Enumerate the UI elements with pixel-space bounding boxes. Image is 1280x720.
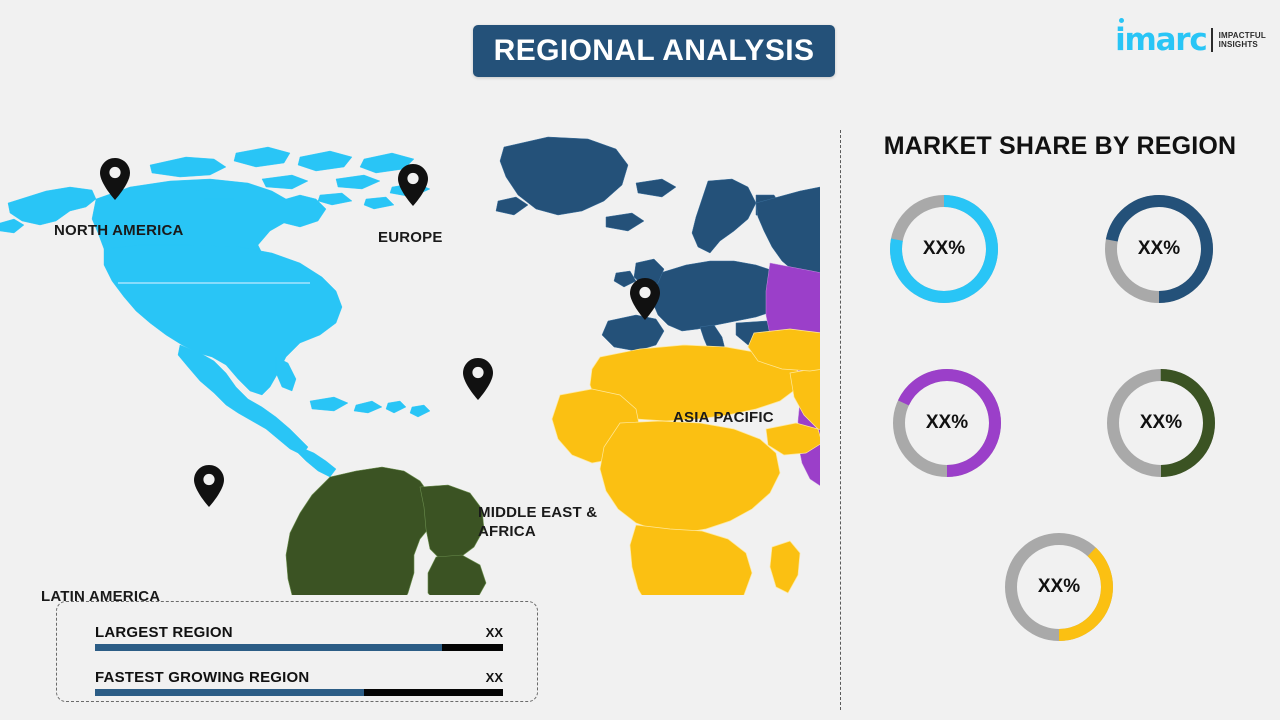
donut-chart-latin-america: XX% <box>1102 364 1220 482</box>
donut-value-label: XX% <box>1102 364 1220 482</box>
logo-tagline: IMPACTFUL INSIGHTS <box>1219 31 1266 49</box>
world-map: NORTH AMERICA EUROPE ASIA PACIFIC MIDDLE… <box>0 95 820 595</box>
donut-chart-asia-pacific: XX% <box>888 364 1006 482</box>
donut-chart-middle-east-africa: XX% <box>1000 528 1118 646</box>
legend-bar-fill-fastest-growing-region <box>95 689 364 696</box>
logo-divider <box>1211 28 1213 52</box>
map-region-middle-east-africa <box>552 329 820 595</box>
logo-dot-icon <box>1119 18 1124 23</box>
logo-wordmark: imarc <box>1115 25 1207 56</box>
region-ranking-legend: LARGEST REGION XX FASTEST GROWING REGION… <box>56 601 538 702</box>
legend-bar-fill-largest-region <box>95 644 442 651</box>
legend-head: LARGEST REGION XX <box>95 624 503 641</box>
donut-value-label: XX% <box>888 364 1006 482</box>
legend-bar-track-largest-region <box>95 644 503 651</box>
legend-label-largest-region: LARGEST REGION <box>95 624 233 641</box>
donut-value-label: XX% <box>1000 528 1118 646</box>
legend-label-fastest-growing-region: FASTEST GROWING REGION <box>95 669 309 686</box>
map-label-asia-pacific: ASIA PACIFIC <box>673 408 774 427</box>
legend-head: FASTEST GROWING REGION XX <box>95 669 503 686</box>
logo-tagline-line1: IMPACTFUL <box>1219 31 1266 40</box>
donut-chart-europe: XX% <box>1100 190 1218 308</box>
page-title-badge: REGIONAL ANALYSIS <box>473 25 835 77</box>
section-divider <box>840 130 841 710</box>
map-label-north-america: NORTH AMERICA <box>54 221 184 240</box>
page-title: REGIONAL ANALYSIS <box>494 34 815 68</box>
legend-value-fastest-growing-region: XX <box>486 670 503 685</box>
market-share-title: MARKET SHARE BY REGION <box>840 132 1280 161</box>
legend-row-largest-region: LARGEST REGION XX <box>95 624 503 651</box>
map-region-latin-america <box>286 467 486 595</box>
logo-tagline-line2: INSIGHTS <box>1219 40 1266 49</box>
map-pin-middle-east-africa[interactable] <box>463 358 493 400</box>
map-pin-europe[interactable] <box>398 164 428 206</box>
map-label-middle-east-africa: MIDDLE EAST & AFRICA <box>478 503 597 541</box>
donut-value-label: XX% <box>885 190 1003 308</box>
map-label-europe: EUROPE <box>378 228 443 247</box>
imarc-logo: imarc IMPACTFUL INSIGHTS <box>1115 22 1266 58</box>
map-pin-asia-pacific[interactable] <box>630 278 660 320</box>
world-map-svg <box>0 95 820 595</box>
legend-bar-track-fastest-growing-region <box>95 689 503 696</box>
infographic-canvas: REGIONAL ANALYSIS imarc IMPACTFUL INSIGH… <box>0 0 1280 720</box>
map-pin-latin-america[interactable] <box>194 465 224 507</box>
donut-value-label: XX% <box>1100 190 1218 308</box>
logo-wordmark-text: imarc <box>1115 22 1207 58</box>
legend-row-fastest-growing-region: FASTEST GROWING REGION XX <box>95 669 503 696</box>
map-region-north-america <box>0 147 430 477</box>
donut-chart-north-america: XX% <box>885 190 1003 308</box>
legend-value-largest-region: XX <box>486 625 503 640</box>
